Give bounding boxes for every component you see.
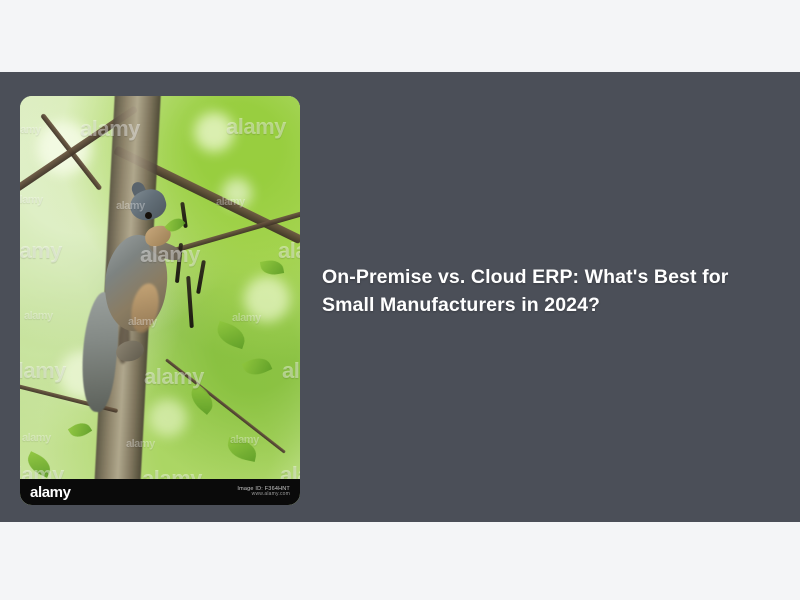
alamy-logo: alamy	[30, 485, 71, 500]
squirrel-leg	[114, 337, 146, 363]
hero-copy: On-Premise vs. Cloud ERP: What's Best fo…	[322, 264, 762, 319]
page-title: On-Premise vs. Cloud ERP: What's Best fo…	[322, 264, 762, 319]
image-source-url: www.alamy.com	[237, 492, 290, 498]
page-top-spacer	[0, 0, 800, 72]
bokeh-highlight	[194, 112, 234, 152]
hero-image-card[interactable]: alamy alamy alamy alamy alamy alamy alam…	[20, 96, 300, 505]
hero-banner: alamy alamy alamy alamy alamy alamy alam…	[0, 72, 800, 522]
image-credit-meta: Image ID: F364HNT www.alamy.com	[237, 486, 290, 498]
page-root: alamy alamy alamy alamy alamy alamy alam…	[0, 0, 800, 600]
stock-photo	[20, 96, 300, 505]
image-credit-bar: alamy Image ID: F364HNT www.alamy.com	[20, 479, 300, 505]
bokeh-highlight	[244, 276, 290, 322]
page-bottom-spacer	[0, 522, 800, 600]
